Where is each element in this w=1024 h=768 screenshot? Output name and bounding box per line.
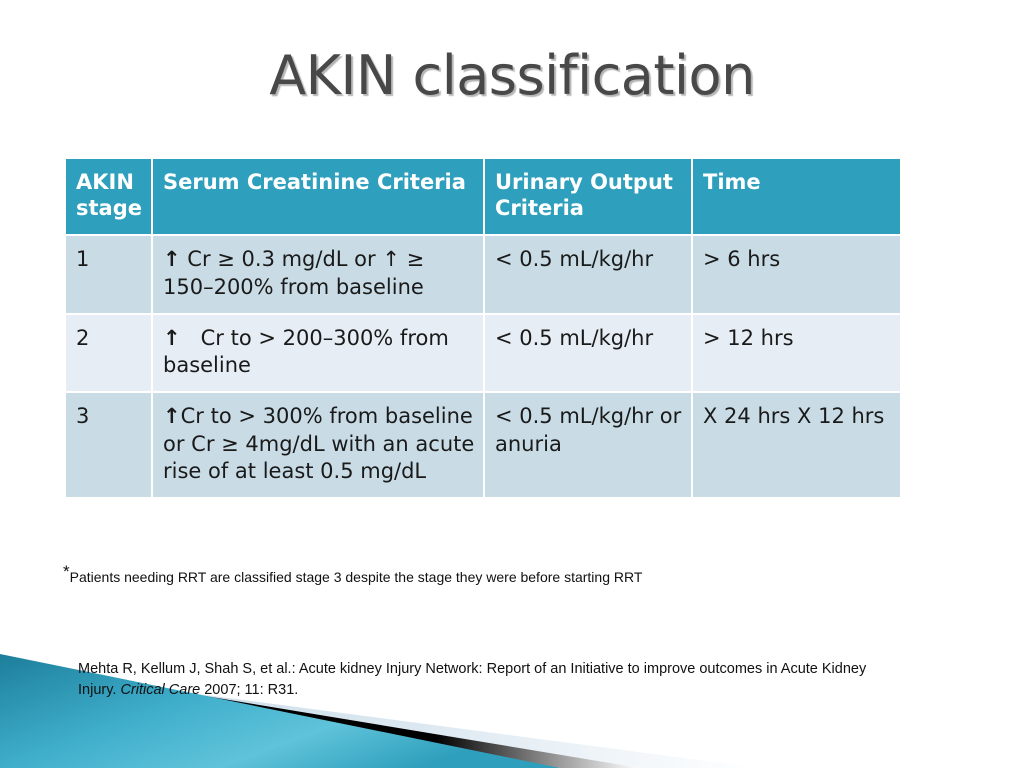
cell-serum-creatinine-text: Cr to > 200–300% from baseline [163, 326, 456, 377]
cell-serum-creatinine: ↑Cr to > 300% from baseline or Cr ≥ 4mg/… [152, 392, 484, 497]
column-header-time: Time [692, 159, 900, 235]
cell-serum-creatinine: ↑ Cr to > 200–300% from baseline [152, 314, 484, 393]
akin-classification-table: AKIN stage Serum Creatinine Criteria Uri… [66, 159, 900, 497]
cell-time: X 24 hrs X 12 hrs [692, 392, 900, 497]
cell-urinary-output: < 0.5 mL/kg/hr [484, 314, 692, 393]
cell-stage: 1 [66, 235, 152, 314]
column-header-urinary-output: Urinary Output Criteria [484, 159, 692, 235]
cell-stage: 3 [66, 392, 152, 497]
page-title: AKIN classification [0, 44, 1024, 107]
column-header-akin-stage: AKIN stage [66, 159, 152, 235]
cell-urinary-output: < 0.5 mL/kg/hr or anuria [484, 392, 692, 497]
column-header-serum-creatinine: Serum Creatinine Criteria [152, 159, 484, 235]
cell-serum-creatinine: ↑ Cr ≥ 0.3 mg/dL or ↑ ≥ 150–200% from ba… [152, 235, 484, 314]
cell-urinary-output: < 0.5 mL/kg/hr [484, 235, 692, 314]
cell-serum-creatinine-text: Cr ≥ 0.3 mg/dL or ↑ ≥ 150–200% from base… [163, 247, 424, 298]
footnote-marker: * [63, 562, 70, 581]
cell-serum-creatinine-text: Cr to > 300% from baseline or Cr ≥ 4mg/d… [163, 404, 474, 483]
table-row: 3 ↑Cr to > 300% from baseline or Cr ≥ 4m… [66, 392, 900, 497]
table-row: 1 ↑ Cr ≥ 0.3 mg/dL or ↑ ≥ 150–200% from … [66, 235, 900, 314]
up-arrow-icon: ↑ [163, 247, 181, 271]
cell-stage: 2 [66, 314, 152, 393]
table-footnote: *Patients needing RRT are classified sta… [63, 569, 943, 586]
cell-time: > 6 hrs [692, 235, 900, 314]
table-header-row: AKIN stage Serum Creatinine Criteria Uri… [66, 159, 900, 235]
up-arrow-icon: ↑ [163, 326, 181, 350]
citation-part2: 2007; 11: R31. [200, 682, 298, 698]
citation-journal-name: Critical Care [120, 682, 200, 698]
up-arrow-icon: ↑ [163, 404, 181, 428]
citation-reference: Mehta R, Kellum J, Shah S, et al.: Acute… [78, 659, 908, 701]
footnote-text: Patients needing RRT are classified stag… [70, 569, 643, 585]
table-row: 2 ↑ Cr to > 200–300% from baseline < 0.5… [66, 314, 900, 393]
cell-time: > 12 hrs [692, 314, 900, 393]
